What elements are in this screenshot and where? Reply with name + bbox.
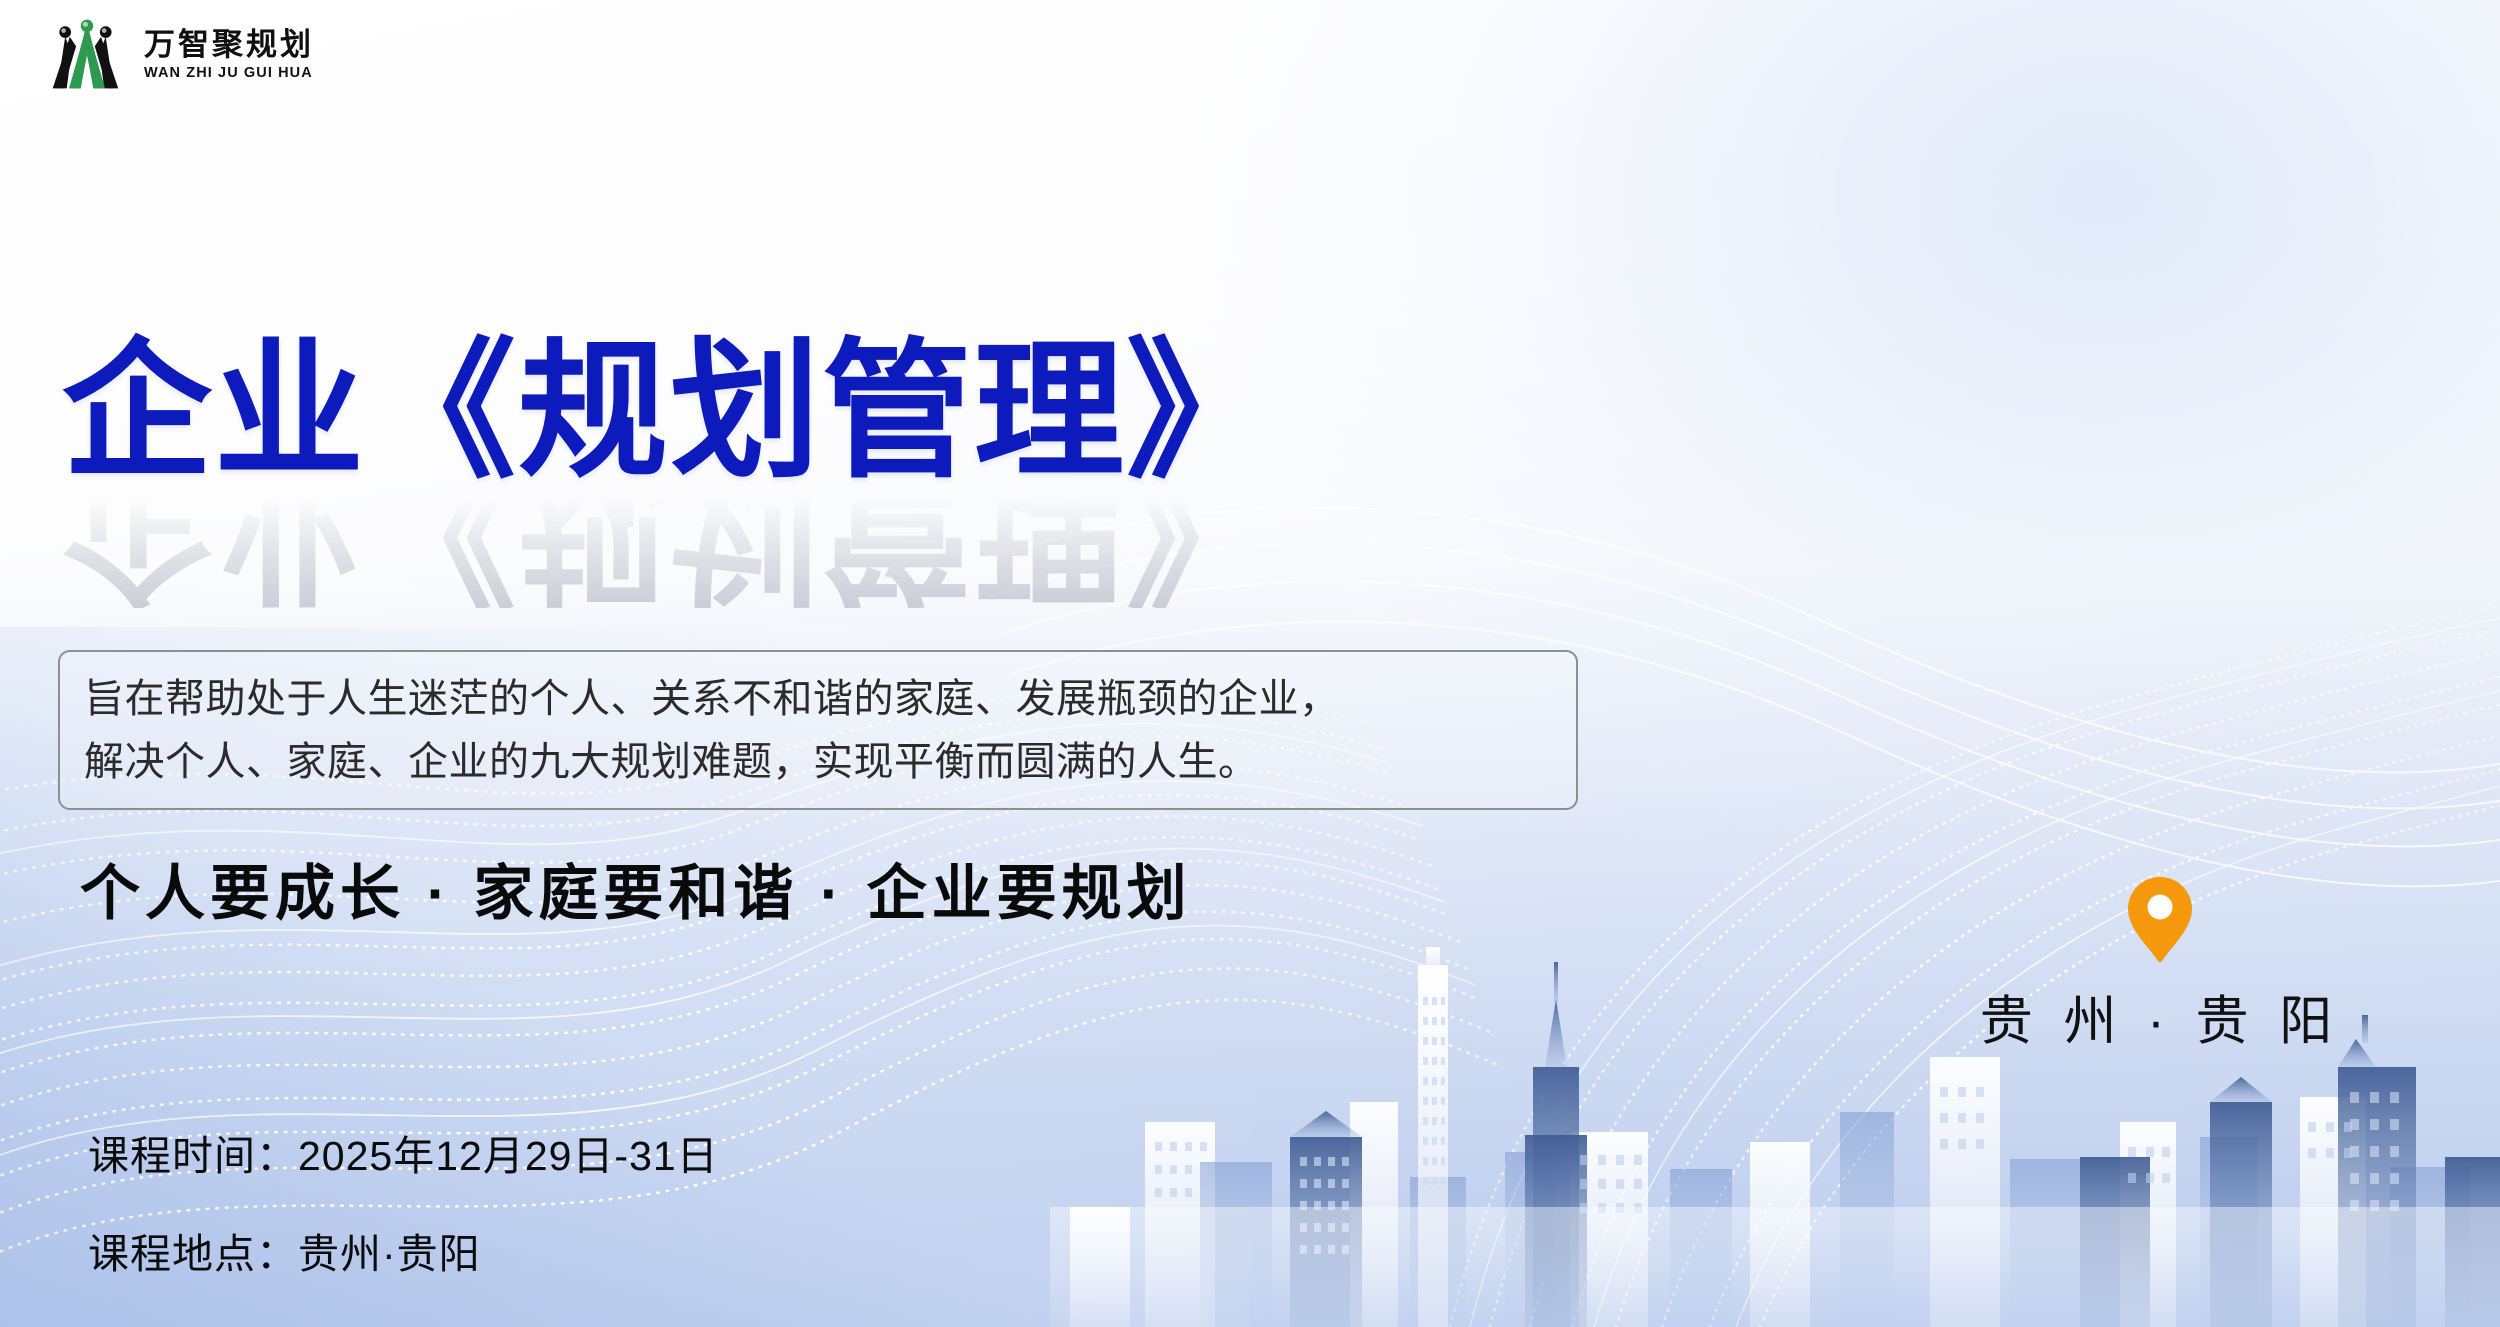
- hero-title-block: 企业《规划管理》 企业《规划管理》: [62, 336, 1278, 608]
- course-info-block: 课程时间：2025年12月29日-31日 课程地点：贵州·贵阳: [88, 1122, 719, 1280]
- course-time: 课程时间：2025年12月29日-31日: [88, 1122, 719, 1182]
- course-place: 课程地点：贵州·贵阳: [88, 1220, 719, 1280]
- brand-name-en: WAN ZHI JU GUI HUA: [144, 65, 314, 81]
- slogan-text: 个人要成长 · 家庭要和谐 · 企业要规划: [80, 845, 1192, 932]
- three-people-mountain-logo-icon: [48, 18, 126, 90]
- description-line-2: 解决个人、家庭、企业的九大规划难题，实现平衡而圆满的人生。: [84, 731, 1554, 794]
- map-pin-icon: [2127, 875, 2193, 963]
- page-title: 企业《规划管理》: [62, 336, 1278, 486]
- description-line-1: 旨在帮助处于人生迷茫的个人、关系不和谐的家庭、发展瓶颈的企业，: [84, 668, 1554, 731]
- poster-canvas: 万智聚规划 WAN ZHI JU GUI HUA 企业《规划管理》 企业《规划管…: [0, 0, 2500, 1327]
- brand-text: 万智聚规划 WAN ZHI JU GUI HUA: [144, 27, 314, 82]
- page-title-reflection: 企业《规划管理》: [62, 488, 1278, 608]
- location-block: 贵 州 · 贵 阳: [1950, 875, 2370, 1055]
- location-label: 贵 州 · 贵 阳: [1950, 979, 2370, 1055]
- brand-name-cn: 万智聚规划: [144, 27, 314, 63]
- description-box: 旨在帮助处于人生迷茫的个人、关系不和谐的家庭、发展瓶颈的企业， 解决个人、家庭、…: [58, 650, 1578, 810]
- brand-header: 万智聚规划 WAN ZHI JU GUI HUA: [48, 18, 314, 90]
